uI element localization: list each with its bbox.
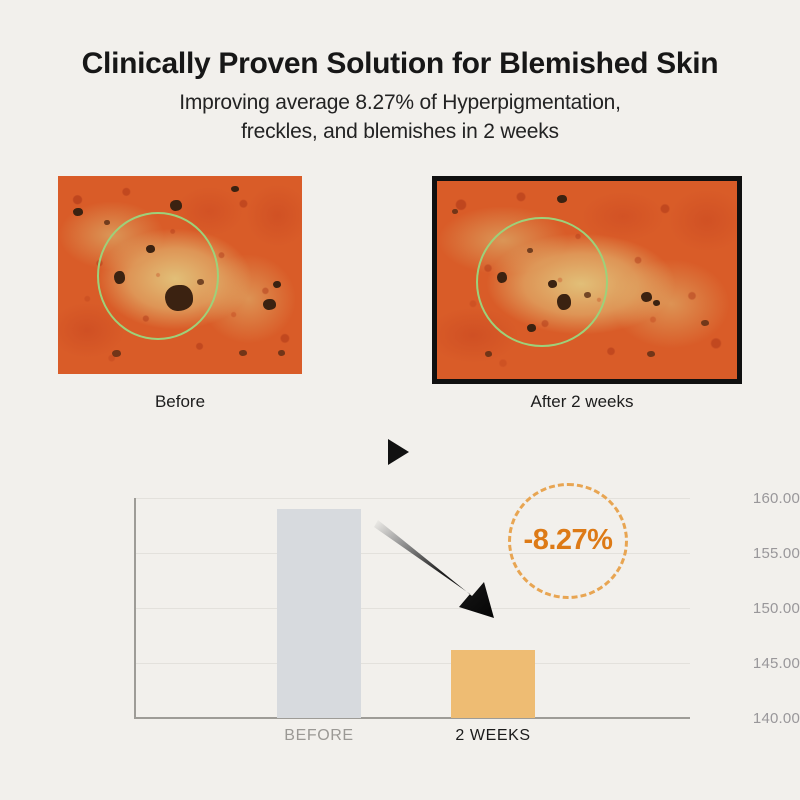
after-photo-wrap: [432, 176, 742, 384]
pigment-spot: [557, 195, 567, 203]
results-bar-chart: 160.00 155.00 150.00 145.00 140.00 BEFOR…: [0, 455, 800, 775]
before-skin-photo: [58, 176, 302, 374]
change-badge: -8.27%: [508, 483, 628, 599]
bar-label-before: BEFORE: [277, 727, 361, 745]
before-after-comparison: Before After 2 weeks: [0, 170, 800, 420]
pigment-spot: [701, 320, 709, 326]
y-axis-tick-label: 140.00: [676, 710, 800, 727]
y-axis-tick-label: 145.00: [676, 655, 800, 672]
measurement-circle: [97, 212, 219, 341]
after-caption: After 2 weeks: [437, 392, 727, 412]
pigment-spot: [278, 350, 285, 356]
subtitle-line-2: freckles, and blemishes in 2 weeks: [0, 117, 800, 146]
header-block: Clinically Proven Solution for Blemished…: [0, 0, 800, 146]
pigment-spot: [170, 200, 182, 211]
pigment-spot: [641, 292, 652, 302]
x-axis-line: [134, 717, 690, 719]
bar-2-weeks: [451, 650, 535, 718]
page-title: Clinically Proven Solution for Blemished…: [0, 47, 800, 81]
pigment-spot: [263, 299, 276, 310]
bar-before: [277, 509, 361, 718]
pigment-spot: [231, 186, 239, 192]
y-axis-tick-label: 150.00: [676, 600, 800, 617]
pigment-spot: [104, 220, 110, 225]
bar-label-2-weeks: 2 WEEKS: [451, 727, 535, 745]
measurement-circle: [476, 217, 608, 348]
gridline: [135, 663, 690, 664]
y-axis-line: [134, 498, 136, 718]
pigment-spot: [273, 281, 281, 288]
after-skin-photo: [432, 176, 742, 384]
y-axis-tick-label: 160.00: [676, 490, 800, 507]
before-photo-wrap: [58, 176, 302, 374]
pigment-spot: [239, 350, 247, 356]
before-caption: Before: [58, 392, 302, 412]
pigment-spot: [73, 208, 83, 216]
pigment-spot: [653, 300, 660, 306]
decrease-arrow-icon: [360, 510, 520, 630]
pigment-spot: [112, 350, 121, 357]
y-axis-tick-label: 155.00: [676, 545, 800, 562]
subtitle-line-1: Improving average 8.27% of Hyperpigmenta…: [0, 88, 800, 117]
change-badge-value: -8.27%: [524, 524, 613, 557]
gridline: [135, 608, 690, 609]
pigment-spot: [452, 209, 458, 214]
